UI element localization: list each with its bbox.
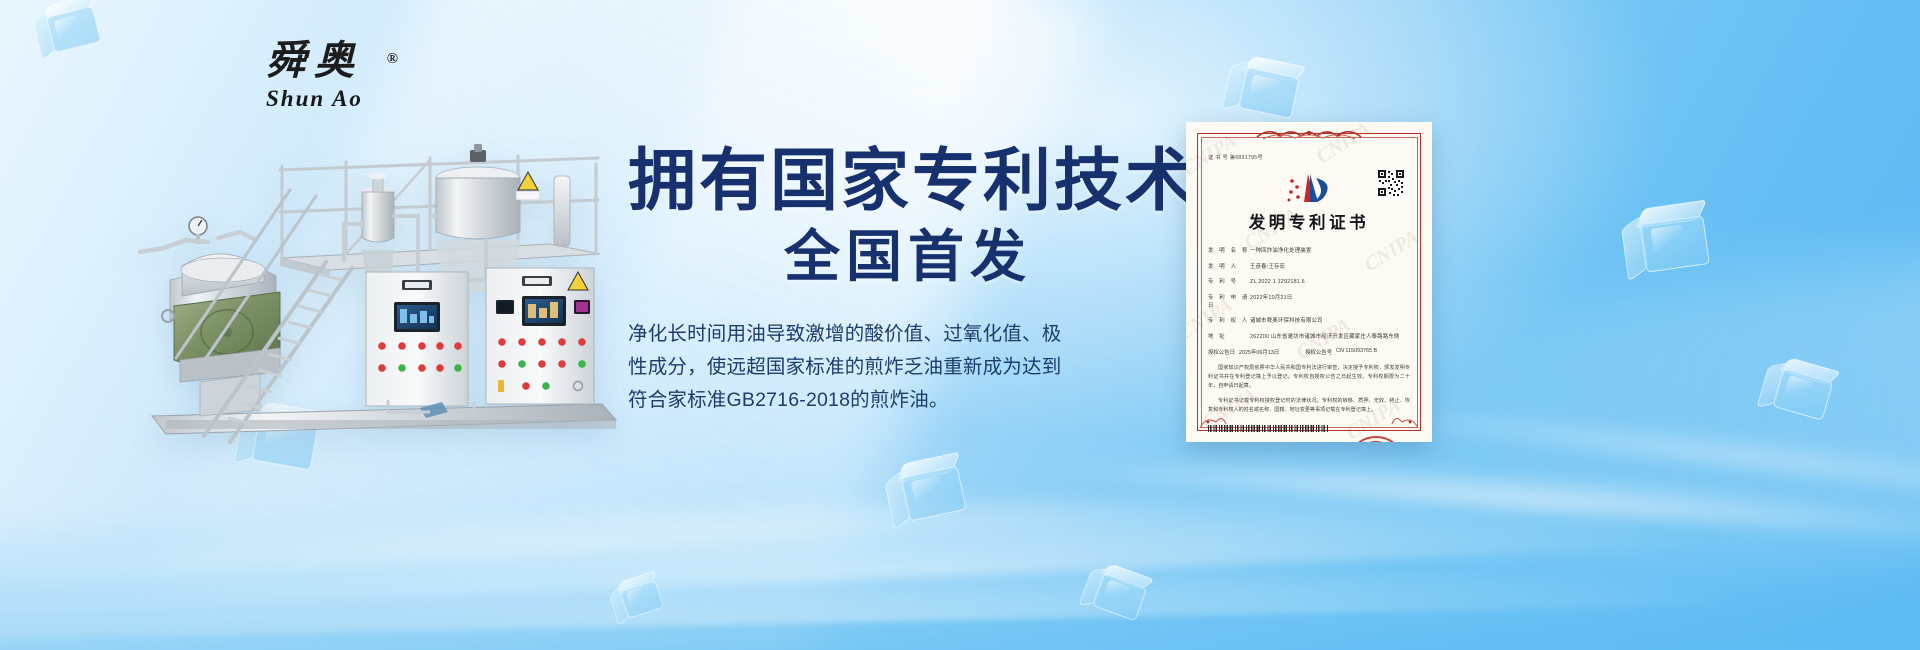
ice-cube-front-face bbox=[1639, 215, 1709, 273]
ice-cube-side-face bbox=[1221, 61, 1249, 110]
wave-ribbon-4 bbox=[0, 464, 1920, 650]
ice-cube-8-icon bbox=[606, 572, 665, 631]
grant-date-value: 2025年06月13日 bbox=[1239, 348, 1279, 356]
brand-logo-latin: Shun Ao bbox=[266, 86, 396, 112]
ice-cube-highlight bbox=[910, 476, 943, 505]
certificate-qr-code bbox=[1376, 168, 1408, 200]
ice-cube-front-face bbox=[619, 579, 664, 619]
ice-cube-side-face bbox=[609, 586, 629, 626]
grant-date-label: 授权公告日 bbox=[1208, 348, 1235, 356]
ice-cube-highlight bbox=[54, 14, 82, 39]
description-paragraph: 净化长时间用油导致激增的酸价值、过氧化值、极性成分，使远超国家标准的煎炸乏油重新… bbox=[628, 318, 1078, 417]
control-cabinet-right bbox=[486, 268, 594, 404]
machine-column bbox=[554, 176, 570, 246]
certificate-grant-row: 授权公告日 2025年06月13日 授权公告号 CN 115093765 B bbox=[1208, 348, 1410, 356]
field-label: 专 利 号 bbox=[1208, 278, 1250, 286]
field-value: 2022年10月21日 bbox=[1250, 294, 1410, 310]
field-label: 专 利 权 人 bbox=[1208, 317, 1250, 325]
certificate-field-row: 专 利 号 ZL 2022 1 1292181.6 bbox=[1208, 278, 1410, 286]
ice-cube-side-face bbox=[33, 11, 56, 62]
field-label: 地 址 bbox=[1208, 333, 1250, 341]
ice-cube-top-face bbox=[1241, 56, 1307, 81]
ice-cube-side-face bbox=[885, 471, 911, 532]
machine-illustration bbox=[130, 120, 650, 450]
ice-cube-top-face bbox=[616, 570, 656, 596]
registered-trademark-icon: ® bbox=[387, 36, 406, 82]
cnipa-emblem-icon bbox=[1282, 172, 1336, 206]
grant-no-value: CN 115093765 B bbox=[1336, 348, 1377, 356]
ice-cube-side-face bbox=[1621, 216, 1647, 282]
ice-cube-6-icon bbox=[881, 453, 967, 539]
ice-cube-side-face bbox=[1078, 568, 1108, 606]
field-label: 专 利 申 请 日 bbox=[1208, 294, 1250, 310]
certificate-title: 发明专利证书 bbox=[1208, 209, 1410, 233]
certificate-corner-ornament-bl bbox=[1198, 410, 1228, 430]
certificate-serial-value: 第6831795号 bbox=[1230, 155, 1263, 161]
control-cabinet-left bbox=[366, 272, 468, 406]
qr-code-icon bbox=[1377, 169, 1405, 197]
ice-cube-1-icon bbox=[30, 0, 102, 68]
ice-cube-front-face bbox=[46, 6, 102, 53]
certificate-field-row: 发 明 名 称 一种回炸油净化处理装置 bbox=[1208, 247, 1410, 255]
wave-ribbon-2 bbox=[0, 450, 1920, 640]
ice-cube-2-icon bbox=[1220, 52, 1300, 132]
certificate-paragraph-1: 国家知识产权局依照中华人民共和国专利法进行审查，决定授予专利权，颁发发明专利证书… bbox=[1208, 364, 1410, 391]
ice-cube-front-face bbox=[900, 466, 966, 522]
ice-cube-highlight bbox=[1784, 375, 1815, 402]
brand-logo-chinese-text: 舜奥 bbox=[266, 38, 362, 83]
ice-cube-top-face bbox=[1099, 564, 1156, 590]
certificate-serial-label: 证 书 号 bbox=[1208, 155, 1228, 161]
field-value: 王彦春;王存宏 bbox=[1250, 263, 1410, 271]
grant-no-label: 授权公告号 bbox=[1305, 348, 1332, 356]
ice-cube-front-face bbox=[1772, 368, 1833, 421]
centrifuge-separator bbox=[140, 217, 280, 416]
ice-cube-front-face bbox=[1092, 572, 1147, 621]
certificate-field-row: 地 址 262200 山东省潍坊市诸城市经济开发区藏家庄人泰路路东侧 bbox=[1208, 333, 1410, 341]
ice-cube-4-icon bbox=[1754, 352, 1834, 432]
certificate-corner-ornament-br bbox=[1390, 410, 1420, 430]
ice-cube-3-icon bbox=[1619, 201, 1710, 292]
ice-cube-side-face bbox=[1756, 362, 1787, 407]
ice-cube-highlight bbox=[1650, 224, 1686, 254]
certificate-field-row: 发 明 人 王彦春;王存宏 bbox=[1208, 263, 1410, 271]
ice-cube-highlight bbox=[625, 587, 647, 607]
certificate-serial: 证 书 号 第6831795号 bbox=[1208, 154, 1410, 161]
field-value: 262200 山东省潍坊市诸城市经济开发区藏家庄人泰路路东侧 bbox=[1250, 333, 1410, 341]
certificate-ornament-icon bbox=[1249, 125, 1369, 143]
ice-cube-top-face bbox=[896, 452, 960, 484]
certificate-body-text: 国家知识产权局依照中华人民共和国专利法进行审查，决定授予专利权，颁发发明专利证书… bbox=[1208, 364, 1410, 415]
brand-logo-chinese: 舜奥 ® bbox=[266, 38, 396, 84]
certificate-field-list: 发 明 名 称 一种回炸油净化处理装置 发 明 人 王彦春;王存宏 专 利 号 … bbox=[1208, 247, 1410, 356]
field-value: 诸城市舜奥环保科技有限公司 bbox=[1250, 317, 1410, 325]
certificate-signature: 申长雨 bbox=[1249, 441, 1316, 442]
certificate-field-row: 专 利 权 人 诸城市舜奥环保科技有限公司 bbox=[1208, 317, 1410, 325]
ice-cube-7-icon bbox=[1076, 558, 1149, 631]
certificate-paragraph-2: 专利证书记载专利权授权登记时的法律状况。专利权的转移、质押、无效、终止、恢复和专… bbox=[1208, 397, 1410, 415]
ice-cube-highlight bbox=[1249, 74, 1280, 101]
official-seal: 国家知识产权局 ★ 2025年06月13日 bbox=[1346, 436, 1406, 442]
certificate-signature-zone: 局长 申长雨 申长雨 国家知识产权局 ★ 2025年06月13日 bbox=[1208, 436, 1410, 442]
brand-logo: 舜奥 ® Shun Ao bbox=[266, 38, 396, 118]
copy-block: 拥有国家专利技术 全国首发 净化长时间用油导致激增的酸价值、过氧化值、极性成分，… bbox=[628, 140, 1188, 417]
ice-cube-highlight bbox=[1103, 579, 1131, 604]
ice-cube-top-face bbox=[42, 0, 94, 22]
ice-cube-top-face bbox=[1634, 200, 1707, 230]
certificate-field-row: 专 利 申 请 日 2022年10月21日 bbox=[1208, 294, 1410, 310]
patent-certificate: CNIPA CNIPA CNIPA CNIPA CNIPA CNIPA CNIP… bbox=[1186, 122, 1432, 442]
oil-purification-machine-image bbox=[130, 120, 650, 450]
machine-tank-small bbox=[362, 173, 394, 281]
ice-cube-front-face bbox=[1238, 67, 1299, 119]
field-value: 一种回炸油净化处理装置 bbox=[1250, 247, 1410, 255]
headline-line-2: 全国首发 bbox=[628, 222, 1188, 292]
promo-banner: 舜奥 ® Shun Ao bbox=[0, 0, 1920, 650]
seal-inner-ring bbox=[1351, 441, 1401, 442]
field-value: ZL 2022 1 1292181.6 bbox=[1250, 278, 1410, 286]
ice-cube-top-face bbox=[1777, 358, 1841, 385]
field-label: 发 明 名 称 bbox=[1208, 247, 1250, 255]
headline-line-1: 拥有国家专利技术 bbox=[628, 140, 1188, 222]
field-label: 发 明 人 bbox=[1208, 263, 1250, 271]
